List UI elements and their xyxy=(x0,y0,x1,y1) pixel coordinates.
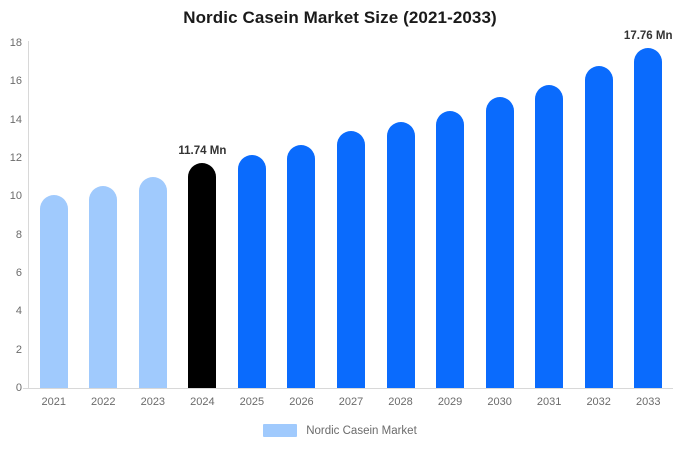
bar-2026[interactable] xyxy=(277,145,327,388)
bar-rect-2026 xyxy=(287,145,315,388)
legend-swatch-nordic-casein-market xyxy=(263,424,297,437)
bar-2022[interactable] xyxy=(79,186,129,388)
bar-value-label-2024: 11.74 Mn xyxy=(178,145,226,157)
bar-2024[interactable]: 11.74 Mn xyxy=(178,163,228,388)
bar-value-label-2033: 17.76 Mn xyxy=(624,30,673,42)
chart-legend: Nordic Casein Market xyxy=(0,424,680,437)
bar-rect-2021 xyxy=(40,195,68,388)
bar-2030[interactable] xyxy=(475,97,525,388)
bar-rect-2030 xyxy=(486,97,514,388)
y-axis-tick-12: 12 xyxy=(0,152,22,164)
bar-2028[interactable] xyxy=(376,122,426,388)
bar-rect-2025 xyxy=(238,155,266,388)
y-axis-tick-8: 8 xyxy=(0,229,22,241)
x-axis-tick-2023: 2023 xyxy=(128,396,178,408)
bars-layer: 20212022202311.74 Mn20242025202620272028… xyxy=(29,0,673,450)
bar-rect-2027 xyxy=(337,131,365,388)
bar-2032[interactable] xyxy=(574,66,624,388)
x-axis-tick-2033: 2033 xyxy=(623,396,673,408)
y-axis-tick-4: 4 xyxy=(0,305,22,317)
bar-rect-2022 xyxy=(89,186,117,388)
bar-rect-2028 xyxy=(387,122,415,388)
legend-label-nordic-casein-market: Nordic Casein Market xyxy=(306,425,417,437)
bar-rect-2024 xyxy=(188,163,216,388)
x-axis-tick-2024: 2024 xyxy=(178,396,228,408)
bar-2031[interactable] xyxy=(524,85,574,388)
bar-2025[interactable] xyxy=(227,155,277,388)
x-axis-tick-2028: 2028 xyxy=(376,396,426,408)
bar-rect-2023 xyxy=(139,177,167,388)
y-axis-tick-16: 16 xyxy=(0,75,22,87)
x-axis-tick-2030: 2030 xyxy=(475,396,525,408)
bar-rect-2031 xyxy=(535,85,563,388)
x-axis-tick-2032: 2032 xyxy=(574,396,624,408)
bar-chart: Nordic Casein Market Size (2021-2033) 02… xyxy=(0,0,680,450)
bar-rect-2033 xyxy=(634,48,662,388)
bar-2027[interactable] xyxy=(326,131,376,388)
x-axis-tick-2029: 2029 xyxy=(425,396,475,408)
bar-2029[interactable] xyxy=(425,111,475,388)
x-axis-tick-2026: 2026 xyxy=(277,396,327,408)
bar-rect-2032 xyxy=(585,66,613,388)
x-axis-tick-2031: 2031 xyxy=(524,396,574,408)
x-axis-tick-2022: 2022 xyxy=(79,396,129,408)
y-axis-tick-6: 6 xyxy=(0,267,22,279)
y-axis-tick-2: 2 xyxy=(0,344,22,356)
y-axis-tick-14: 14 xyxy=(0,114,22,126)
y-axis-tick-10: 10 xyxy=(0,190,22,202)
y-axis-tick-0: 0 xyxy=(0,382,22,394)
x-axis-tick-2021: 2021 xyxy=(29,396,79,408)
x-axis-tick-2027: 2027 xyxy=(326,396,376,408)
y-axis-tick-18: 18 xyxy=(0,37,22,49)
x-axis-tick-2025: 2025 xyxy=(227,396,277,408)
y-axis-tick-labels: 024681012141618 xyxy=(0,0,22,450)
bar-2033[interactable]: 17.76 Mn xyxy=(623,48,673,388)
bar-2023[interactable] xyxy=(128,177,178,388)
bar-rect-2029 xyxy=(436,111,464,388)
bar-2021[interactable] xyxy=(29,195,79,388)
